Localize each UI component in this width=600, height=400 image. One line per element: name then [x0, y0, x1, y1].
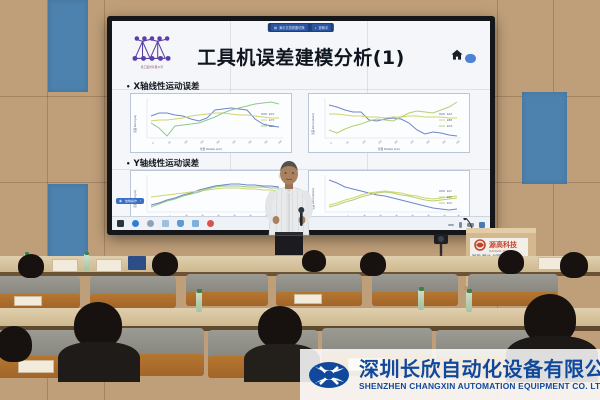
svg-text:300: 300 — [426, 140, 431, 145]
svg-text:100: 100 — [184, 140, 189, 145]
section-text: X轴线性运动误差 — [133, 82, 199, 92]
slide-nav-chip[interactable] — [465, 54, 476, 63]
audience-head — [560, 252, 588, 278]
water-bottle — [418, 290, 424, 310]
wall-accent-strip-right — [522, 92, 567, 184]
ppt-view-button[interactable]: ▤ 演示文档视图切换 — [271, 24, 308, 31]
svg-text:150: 150 — [378, 140, 383, 145]
home-icon[interactable] — [450, 48, 464, 62]
audience-head — [302, 250, 326, 272]
nameplate — [96, 259, 122, 272]
section-label-y-axis: • Y轴线性运动误差 — [126, 157, 199, 169]
watermark-company-cn: 深圳长欣自动化设备有限公司 — [359, 359, 600, 380]
svg-text:误差 Error (μm): 误差 Error (μm) — [133, 115, 137, 133]
folder-icon[interactable] — [162, 220, 169, 227]
search-icon[interactable] — [147, 220, 154, 227]
record-icon: ● — [315, 26, 317, 30]
chart-icon: ▤ — [274, 26, 277, 30]
water-bottle — [84, 254, 89, 271]
svg-text:0: 0 — [152, 142, 155, 145]
ppt-floating-control[interactable]: ◉ 放映操作 › — [116, 198, 144, 204]
wall-accent-strip-left-top — [48, 0, 88, 92]
slide-title: 工具机误差建模分析(1) — [112, 43, 490, 70]
watermark-text: 深圳长欣自动化设备有限公司 SHENZHEN CHANGXIN AUTOMATI… — [359, 359, 600, 391]
record-stop-icon[interactable] — [207, 220, 214, 227]
svg-text:300: 300 — [248, 140, 253, 145]
svg-text:350: 350 — [264, 140, 269, 145]
svg-text:EXX: EXX — [269, 112, 274, 116]
bullet-dot: • — [126, 160, 130, 168]
audience-head — [152, 252, 178, 276]
section-label-x-axis: • X轴线性运动误差 — [126, 80, 200, 92]
shield-icon[interactable] — [177, 220, 184, 227]
seat-back — [372, 292, 458, 306]
ppt-record-label: 放映中 — [319, 25, 329, 30]
section-text: Y轴线性运动误差 — [133, 159, 199, 169]
svg-text:250: 250 — [232, 140, 237, 145]
chart-x-linear-svg: 误差 Error (μm) 0 50 100 150 — [131, 94, 291, 152]
screenshot-root: ▤ 演示文档视图切换 ● 放映中 — [0, 0, 600, 400]
laptop — [128, 256, 146, 270]
bottle-cap — [197, 289, 202, 293]
svg-text:ECX: ECX — [447, 124, 453, 128]
svg-text:200: 200 — [394, 140, 399, 145]
seat-nameplate — [14, 296, 42, 306]
svg-text:50: 50 — [168, 141, 172, 145]
svg-text:EYX: EYX — [269, 118, 274, 122]
bottle-cap — [85, 252, 89, 255]
chart-x-angular[interactable]: 误差 Error (arcsec) 0 50 100 150 — [308, 93, 470, 153]
minus-icon[interactable] — [448, 224, 454, 226]
ppt-floating-label: 放映操作 — [125, 199, 137, 203]
water-bottle — [466, 292, 472, 312]
svg-text:EBX: EBX — [447, 118, 452, 122]
pointer-icon: ◉ — [119, 199, 122, 203]
watermark-company-en: SHENZHEN CHANGXIN AUTOMATION EQUIPMENT C… — [359, 381, 600, 391]
bullet-dot: • — [126, 83, 130, 91]
bottle-cap — [419, 287, 424, 291]
audience-head-front — [0, 326, 32, 362]
edge-browser-icon[interactable] — [132, 220, 139, 227]
svg-text:EBY: EBY — [447, 195, 452, 199]
svg-text:0: 0 — [330, 142, 333, 145]
window-icon[interactable] — [192, 220, 199, 227]
audience-head-front — [258, 306, 302, 348]
svg-text:200: 200 — [216, 140, 221, 145]
water-bottle — [196, 292, 202, 312]
svg-text:400: 400 — [278, 140, 283, 145]
ppt-view-label: 演示文档视图切换 — [279, 25, 305, 30]
nameplate — [52, 259, 78, 272]
svg-text:100: 100 — [362, 140, 367, 145]
chevron-right-icon[interactable]: › — [140, 199, 141, 203]
ppt-toolbar[interactable]: ▤ 演示文档视图切换 ● 放映中 — [268, 23, 334, 32]
company-watermark: 深圳长欣自动化设备有限公司 SHENZHEN CHANGXIN AUTOMATI… — [300, 349, 600, 400]
svg-text:位置 Position (mm): 位置 Position (mm) — [378, 147, 400, 151]
svg-text:350: 350 — [442, 140, 447, 145]
audience-shoulders — [58, 342, 140, 382]
svg-text:误差 Error (arcsec): 误差 Error (arcsec) — [311, 113, 315, 135]
svg-text:400: 400 — [456, 140, 461, 145]
svg-text:150: 150 — [200, 140, 205, 145]
chart-x-angular-svg: 误差 Error (arcsec) 0 50 100 150 — [309, 94, 469, 152]
audience-head — [360, 252, 386, 276]
seat-nameplate — [18, 360, 54, 373]
svg-text:EAX: EAX — [447, 112, 452, 116]
svg-text:ECY: ECY — [447, 201, 453, 205]
audience-head — [18, 254, 44, 278]
svg-text:EZX: EZX — [269, 124, 274, 128]
windows-start-icon[interactable] — [117, 220, 124, 227]
svg-text:250: 250 — [410, 140, 415, 145]
chart-x-linear[interactable]: 误差 Error (μm) 0 50 100 150 — [130, 93, 292, 153]
svg-text:位置 Position (mm): 位置 Position (mm) — [200, 147, 222, 151]
ppt-record-button[interactable]: ● 放映中 — [312, 24, 332, 31]
seat-nameplate — [294, 294, 322, 304]
svg-text:50: 50 — [346, 141, 350, 145]
changxin-swirl-logo — [308, 358, 352, 392]
svg-text:EAY: EAY — [447, 189, 452, 193]
bottle-cap — [467, 289, 472, 293]
audience-head — [498, 250, 524, 274]
